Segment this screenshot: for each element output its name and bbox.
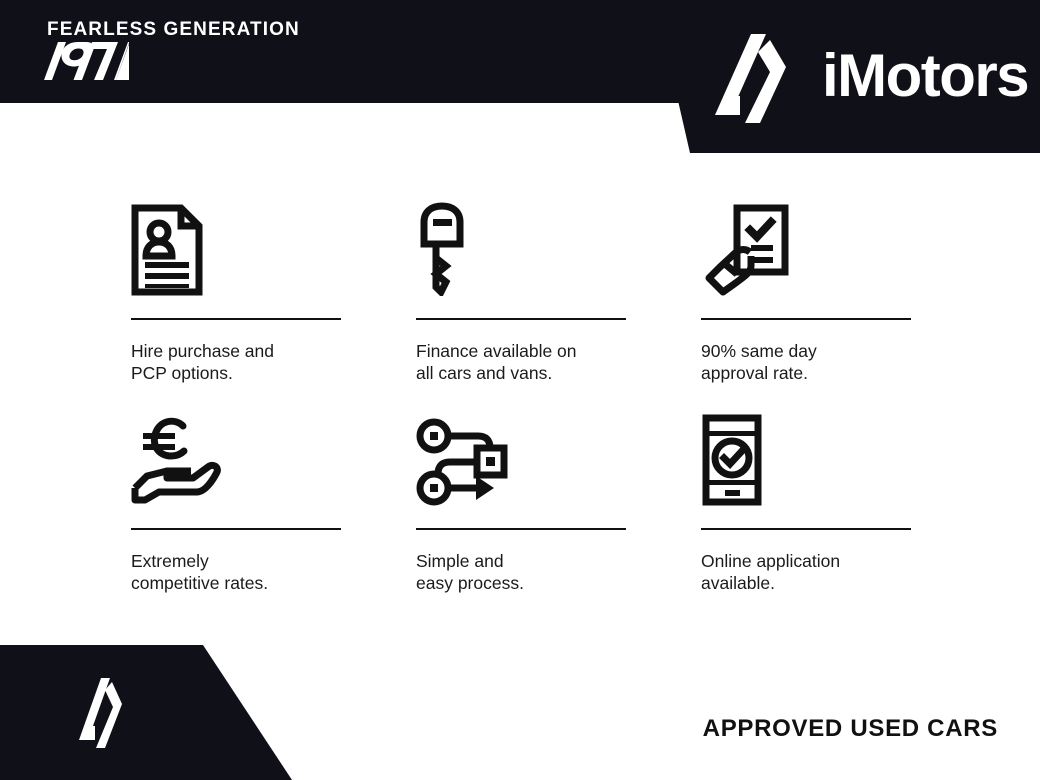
feature-label: 90% same day approval rate. [701,340,911,384]
feature-label: Extremely competitive rates. [131,550,341,594]
feature-divider [701,528,911,530]
feature-grid: Hire purchase and PCP options. Finance a… [131,196,911,616]
footer-band [0,645,340,780]
feature-icon-wrap [131,196,341,296]
footer-tagline: APPROVED USED CARS [703,715,998,743]
feature-divider [701,318,911,320]
imotors-chevron-icon-footer [72,672,134,754]
imotors-logo-lockup: iMotors [700,22,1028,130]
process-flow-icon [416,418,508,506]
feature-card-competitive-rates: Extremely competitive rates. [131,406,341,616]
smartphone-check-icon [701,414,763,506]
feature-divider [131,528,341,530]
feature-card-hire-purchase: Hire purchase and PCP options. [131,196,341,406]
feature-divider [416,528,626,530]
hand-holding-checklist-icon [701,204,789,296]
feature-icon-wrap [416,196,626,296]
feature-card-online-application: Online application available. [701,406,911,616]
feature-label: Finance available on all cars and vans. [416,340,626,384]
feature-label: Hire purchase and PCP options. [131,340,341,384]
feature-icon-wrap [131,406,341,506]
feature-icon-wrap [416,406,626,506]
header-tagline: FEARLESS GENERATION [47,19,300,41]
feature-card-finance-available: Finance available on all cars and vans. [416,196,626,406]
imotors-wordmark: iMotors [822,46,1028,106]
year-1971-logo [34,42,129,80]
promo-page: FEARLESS GENERATION iMotors [0,0,1040,780]
feature-divider [416,318,626,320]
car-key-icon [416,200,468,296]
feature-card-same-day-approval: 90% same day approval rate. [701,196,911,406]
feature-icon-wrap [701,406,911,506]
feature-card-easy-process: Simple and easy process. [416,406,626,616]
feature-label: Simple and easy process. [416,550,626,594]
feature-label: Online application available. [701,550,911,594]
feature-divider [131,318,341,320]
document-person-icon [131,204,203,296]
euro-in-hand-icon [131,414,227,506]
feature-icon-wrap [701,196,911,296]
imotors-chevron-icon [700,22,808,130]
